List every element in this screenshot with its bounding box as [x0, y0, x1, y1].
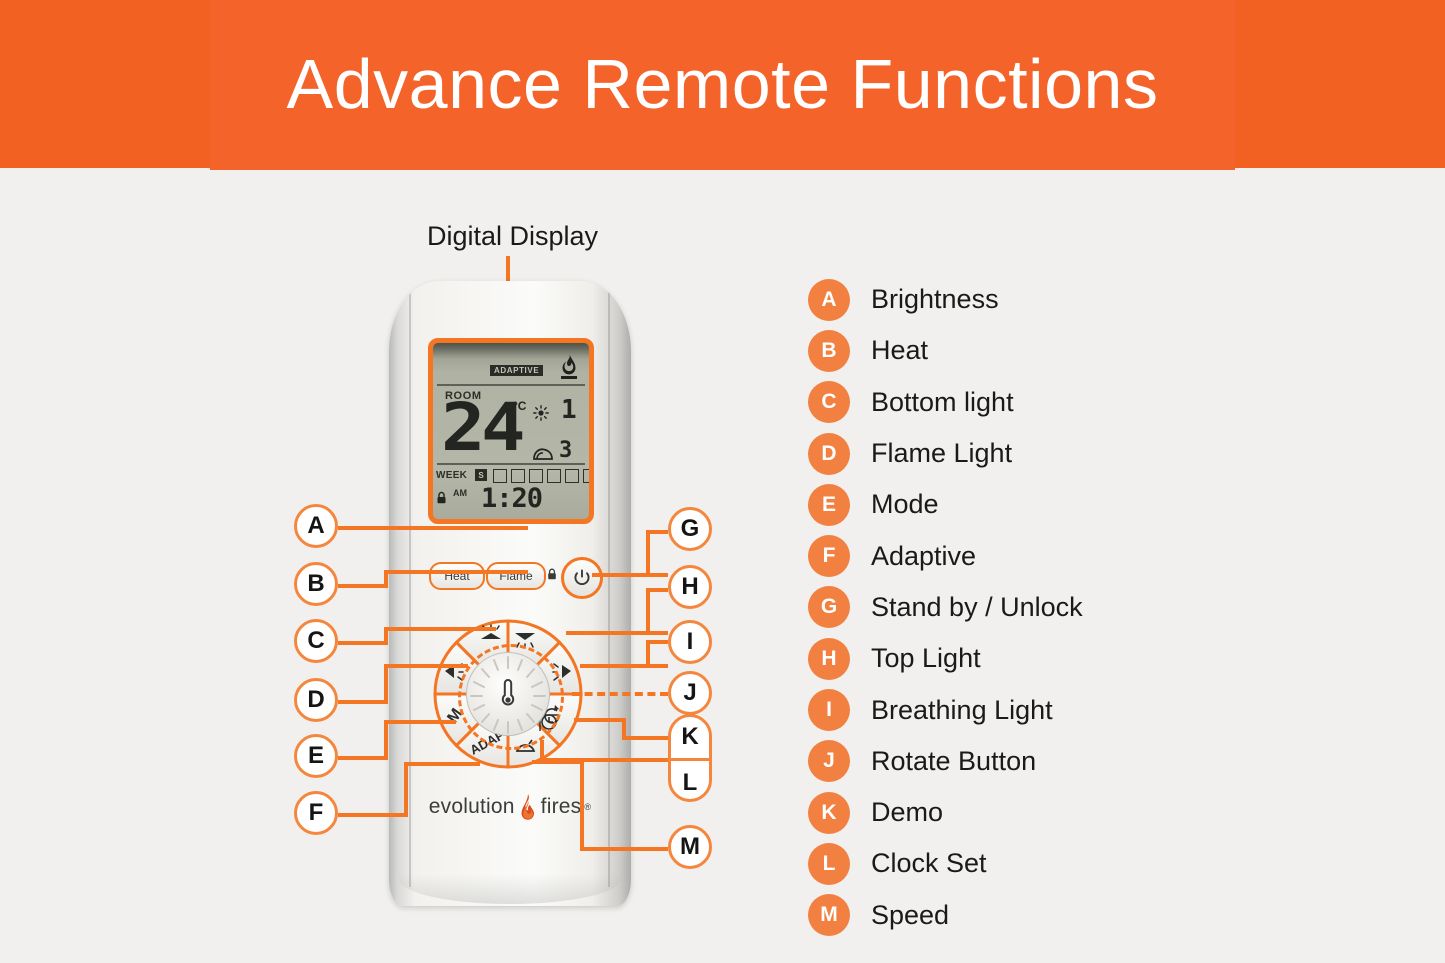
leader-f-3: [404, 762, 480, 766]
callout-k[interactable]: K: [671, 717, 709, 761]
legend-item: E Mode: [808, 479, 1368, 530]
flame-button[interactable]: Flame: [486, 562, 546, 590]
callout-c[interactable]: C: [294, 619, 338, 663]
legend-badge-c: C: [808, 381, 850, 423]
remote-control-device: ADAPTIVE ROOM 24 °C: [389, 281, 631, 906]
legend-label-m: Speed: [871, 902, 949, 929]
legend-label-c: Bottom light: [871, 389, 1014, 416]
lcd-week-day-box: [493, 469, 507, 483]
callout-a[interactable]: A: [294, 504, 338, 548]
lcd-brightness-value: 1: [561, 397, 577, 423]
leader-g-2: [646, 530, 650, 576]
legend-item: C Bottom light: [808, 377, 1368, 428]
legend-badge-b: B: [808, 330, 850, 372]
callout-f[interactable]: F: [294, 791, 338, 835]
legend-badge-j: J: [808, 740, 850, 782]
legend-badge-l: L: [808, 843, 850, 885]
lcd-adaptive-indicator: ADAPTIVE: [490, 365, 543, 376]
lcd-week-day-box: [565, 469, 579, 483]
brand-word-fires: fires: [541, 795, 582, 819]
legend-label-a: Brightness: [871, 286, 999, 313]
legend-item: F Adaptive: [808, 530, 1368, 581]
lcd-meridiem: AM: [453, 488, 467, 498]
leader-m-3: [532, 760, 584, 764]
leader-a: [338, 526, 528, 530]
lcd-sun-icon: [533, 405, 549, 421]
legend-label-b: Heat: [871, 337, 928, 364]
lcd-temperature-unit: °C: [513, 399, 526, 413]
leader-d-3: [384, 664, 468, 668]
legend-item: D Flame Light: [808, 428, 1368, 479]
leader-c-3: [384, 627, 496, 631]
page-title: Advance Remote Functions: [0, 0, 1445, 168]
lcd-display: ADAPTIVE ROOM 24 °C: [428, 338, 594, 524]
lcd-fan-icon: [533, 447, 553, 461]
legend-badge-k: K: [808, 792, 850, 834]
lcd-time-value: 1:20: [481, 485, 542, 512]
digital-display-label: Digital Display: [427, 221, 598, 252]
callout-i[interactable]: I: [668, 620, 712, 664]
leader-d-1: [338, 700, 388, 704]
keypad-lock-icon: [547, 568, 557, 580]
lcd-week-active-day: S: [475, 469, 487, 481]
leader-h-1: [566, 631, 668, 635]
leader-h-3: [646, 588, 668, 592]
page-root: Advance Remote Functions Digital Display: [0, 0, 1445, 963]
lcd-week-day-box: [511, 469, 525, 483]
leader-j-dashed: [572, 692, 668, 696]
leader-c-1: [338, 641, 388, 645]
legend-badge-e: E: [808, 484, 850, 526]
legend-label-h: Top Light: [871, 645, 981, 672]
leader-h-2: [646, 588, 650, 634]
legend-badge-a: A: [808, 279, 850, 321]
leader-i-3: [646, 640, 668, 644]
callout-g[interactable]: G: [668, 507, 712, 551]
circular-keypad: M ADAP: [433, 619, 583, 769]
leader-m-2: [580, 760, 584, 850]
lcd-week-day-box: [583, 469, 594, 483]
lcd-temperature-value: 24: [441, 395, 521, 461]
lcd-divider-bottom: [437, 463, 585, 465]
header-banner: Advance Remote Functions: [0, 0, 1445, 168]
brand-logo: evolution fires ®: [389, 793, 631, 821]
remote-bottom-shade: [399, 874, 621, 904]
brand-registered-mark: ®: [584, 802, 591, 812]
lcd-week-day-box: [547, 469, 561, 483]
legend-item: L Clock Set: [808, 838, 1368, 889]
leader-e-3: [384, 720, 456, 724]
legend-item: G Stand by / Unlock: [808, 582, 1368, 633]
legend-label-d: Flame Light: [871, 440, 1012, 467]
callout-d[interactable]: D: [294, 678, 338, 722]
callout-m[interactable]: M: [668, 825, 712, 869]
legend-label-i: Breathing Light: [871, 697, 1053, 724]
callout-e[interactable]: E: [294, 734, 338, 778]
lcd-week-day-box: [529, 469, 543, 483]
leader-b-1: [338, 584, 388, 588]
legend-badge-h: H: [808, 638, 850, 680]
leader-k-1: [574, 718, 626, 722]
legend-badge-d: D: [808, 433, 850, 475]
lcd-fan-value: 3: [559, 440, 572, 462]
brand-word-evolution: evolution: [429, 795, 515, 819]
leader-b-3: [384, 570, 528, 574]
legend-item: A Brightness: [808, 274, 1368, 325]
power-icon: [573, 569, 591, 587]
rotate-dial-hub[interactable]: [466, 652, 550, 736]
dial-knurl: [466, 652, 550, 736]
legend-badge-m: M: [808, 894, 850, 936]
legend-label-f: Adaptive: [871, 543, 976, 570]
legend-item: I Breathing Light: [808, 684, 1368, 735]
leader-k-3: [622, 736, 668, 740]
legend-label-j: Rotate Button: [871, 748, 1036, 775]
leader-g-1: [592, 573, 668, 577]
leader-f-1: [338, 813, 408, 817]
leader-m-1: [580, 847, 668, 851]
thermometer-icon: [503, 680, 513, 704]
legend-label-l: Clock Set: [871, 850, 987, 877]
leader-e-2: [384, 720, 388, 760]
legend-badge-i: I: [808, 689, 850, 731]
callout-b[interactable]: B: [294, 562, 338, 606]
callout-j[interactable]: J: [668, 671, 712, 715]
brand-flame-icon: [518, 793, 538, 821]
heat-button[interactable]: Heat: [429, 562, 485, 590]
legend-badge-g: G: [808, 586, 850, 628]
standby-power-button[interactable]: [561, 557, 603, 599]
legend-badge-f: F: [808, 535, 850, 577]
legend-label-g: Stand by / Unlock: [871, 594, 1083, 621]
legend-item: H Top Light: [808, 633, 1368, 684]
callout-l[interactable]: L: [671, 761, 709, 805]
lcd-lock-icon: [436, 491, 447, 504]
legend-list: A Brightness B Heat C Bottom light D Fla…: [808, 274, 1368, 941]
leader-f-2: [404, 762, 408, 817]
legend-label-e: Mode: [871, 491, 939, 518]
leader-l-2: [540, 740, 544, 762]
leader-d-2: [384, 664, 388, 704]
lcd-divider-top: [437, 384, 585, 386]
lcd-week-label: WEEK: [436, 470, 467, 481]
legend-item: M Speed: [808, 890, 1368, 941]
callout-h[interactable]: H: [668, 565, 712, 609]
leader-i-1: [580, 664, 668, 668]
legend-item: B Heat: [808, 325, 1368, 376]
leader-g-3: [646, 530, 668, 534]
legend-item: J Rotate Button: [808, 736, 1368, 787]
callout-k-l-group[interactable]: K L: [668, 714, 712, 802]
legend-label-k: Demo: [871, 799, 943, 826]
lcd-surface: ADAPTIVE ROOM 24 °C: [433, 343, 589, 519]
leader-e-1: [338, 756, 388, 760]
legend-item: K Demo: [808, 787, 1368, 838]
lcd-flame-icon: [557, 352, 581, 382]
